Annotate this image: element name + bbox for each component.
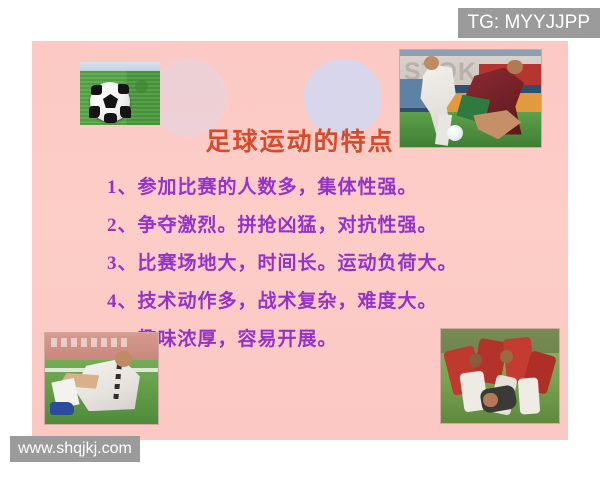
pile-player-head-3	[483, 393, 497, 407]
presentation-slide: STOK 足球运动的特点 1、参加比赛的人数多，集体性强。 2、争夺激烈。拼抢凶…	[32, 41, 568, 440]
list-item: 1、参加比赛的人数多，集体性强。	[32, 169, 568, 207]
screenshot-root: STOK 足球运动的特点 1、参加比赛的人数多，集体性强。 2、争夺激烈。拼抢凶…	[0, 0, 600, 480]
slide-title: 足球运动的特点	[32, 122, 568, 158]
list-item: 3、比赛场地大，时间长。运动负荷大。	[32, 245, 568, 283]
image-seated-player-on-grass	[44, 332, 159, 425]
seated-player-boot	[50, 402, 75, 415]
pile-player-white-3	[518, 377, 540, 414]
image-players-pile-scrum	[440, 328, 560, 424]
image-soccer-ball-on-pitch	[80, 62, 160, 125]
soccer-ball-icon	[90, 82, 130, 122]
telegram-watermark: TG: MYYJJPP	[458, 8, 600, 38]
list-item: 2、争夺激烈。拼抢凶猛，对抗性强。	[32, 207, 568, 245]
pitch-sky	[80, 62, 160, 71]
seated-advert-wall	[45, 333, 158, 360]
seated-advert-text	[51, 338, 128, 347]
list-item: 4、技术动作多，战术复杂，难度大。	[32, 283, 568, 321]
pitch-spot	[135, 80, 148, 93]
website-watermark: www.shqjkj.com	[10, 436, 140, 462]
seated-player-head	[115, 351, 132, 366]
pile-player-head-2	[500, 350, 513, 363]
duel-player-maroon-head	[507, 60, 523, 75]
pile-player-head-1	[469, 353, 482, 366]
